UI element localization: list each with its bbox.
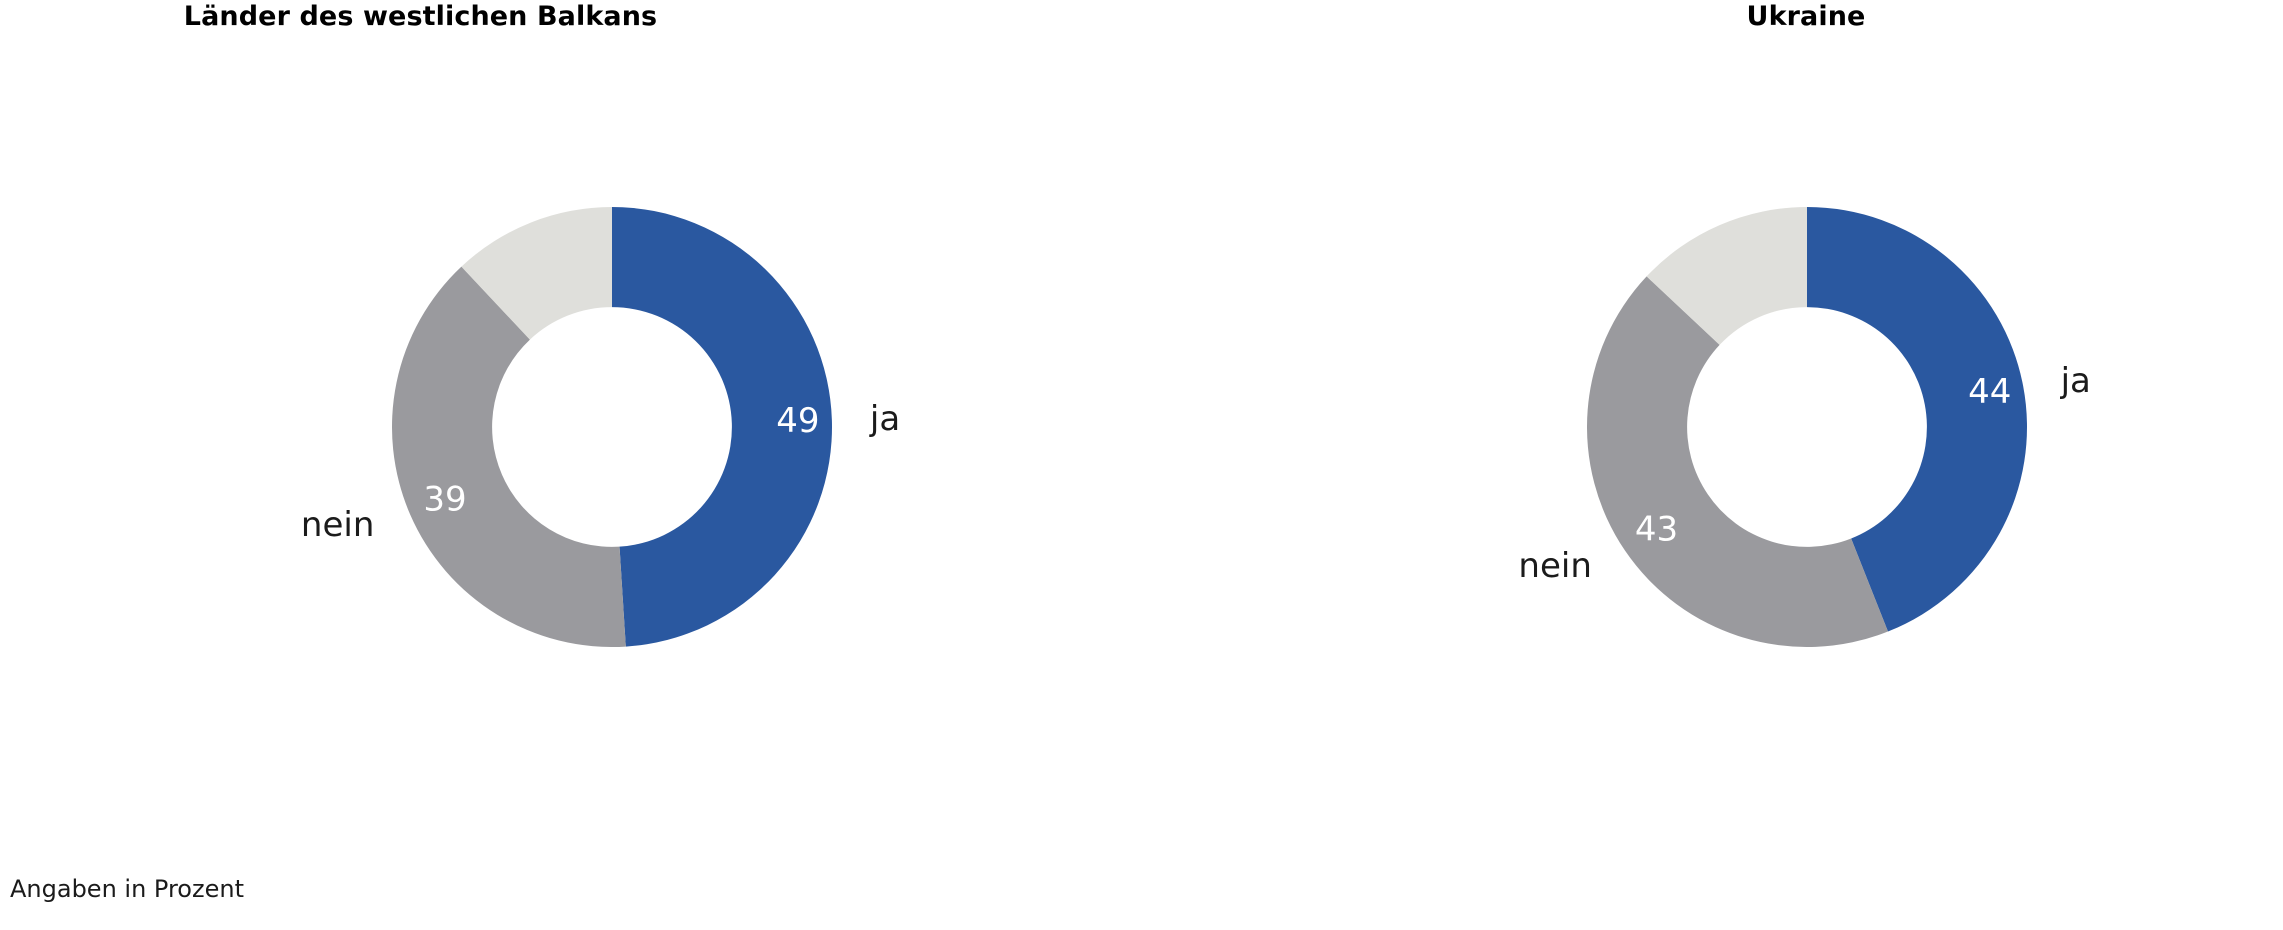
donut-slice-nein[interactable] [1587, 276, 1888, 647]
donut-label-nein: nein [301, 508, 374, 542]
donut-value-ja: 49 [776, 401, 819, 441]
donut-slices-ukraine [1587, 207, 2027, 647]
donut-value-ja: 44 [1968, 372, 2011, 412]
donut-slice-nein[interactable] [392, 267, 626, 647]
donut-slices-balkans [392, 207, 832, 647]
donut-svg-ukraine: 44 43 [1587, 207, 2027, 647]
chart-panel-ukraine: Ukraine 44 43 nein ja [1141, 0, 2283, 930]
donut-value-nein: 39 [423, 479, 466, 519]
donut-value-nein: 43 [1635, 509, 1678, 549]
chart-title-ukraine: Ukraine [1235, 0, 2283, 34]
chart-panel-balkans: Länder des westlichen Balkans 49 39 nein… [0, 0, 1141, 930]
donut-chart-ukraine: 44 43 [1587, 207, 2027, 647]
chart-title-balkans: Länder des westlichen Balkans [0, 0, 991, 34]
donut-label-nein: nein [1518, 549, 1591, 583]
footnote-unit: Angaben in Prozent [10, 875, 244, 903]
donut-svg-balkans: 49 39 [392, 207, 832, 647]
donut-label-ja: ja [2061, 364, 2091, 398]
donut-chart-balkans: 49 39 [392, 207, 832, 647]
donut-label-ja: ja [870, 402, 900, 436]
